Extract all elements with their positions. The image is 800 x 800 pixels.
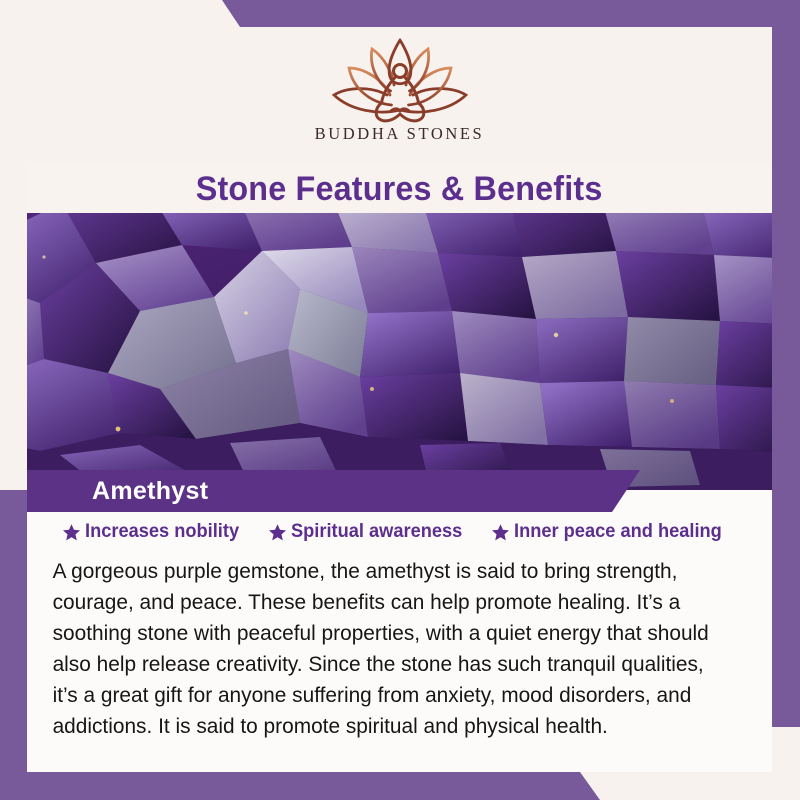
frame-accent-bottom [0, 772, 800, 800]
stone-details: Increases nobility Spiritual awareness I… [27, 490, 772, 772]
amethyst-crystal-cluster-photo [27, 193, 772, 490]
info-card: BUDDHA STONES Stone Features & Benefits [27, 27, 772, 772]
stone-description: A gorgeous purple gemstone, the amethyst… [39, 556, 733, 742]
benefit-label: Spiritual awareness [291, 521, 462, 543]
stone-name-banner: Amethyst [27, 470, 640, 512]
star-icon [62, 523, 81, 542]
benefit-item-2: Spiritual awareness [268, 521, 469, 543]
benefit-item-3: Inner peace and healing [491, 521, 730, 543]
star-icon [491, 523, 510, 542]
frame-accent-top [0, 0, 800, 27]
benefit-label: Increases nobility [85, 521, 239, 543]
page-title: Stone Features & Benefits [196, 170, 603, 209]
lotus-meditation-icon [325, 35, 475, 123]
brand-wordmark: BUDDHA STONES [315, 124, 485, 144]
frame-accent-right [772, 0, 800, 727]
benefits-list: Increases nobility Spiritual awareness I… [39, 521, 754, 543]
frame-accent-left [0, 490, 27, 800]
section-title-band: Stone Features & Benefits [27, 165, 772, 213]
star-icon [268, 523, 287, 542]
benefit-label: Inner peace and healing [514, 521, 722, 543]
benefit-item-1: Increases nobility [62, 521, 246, 543]
stone-name: Amethyst [92, 477, 208, 506]
